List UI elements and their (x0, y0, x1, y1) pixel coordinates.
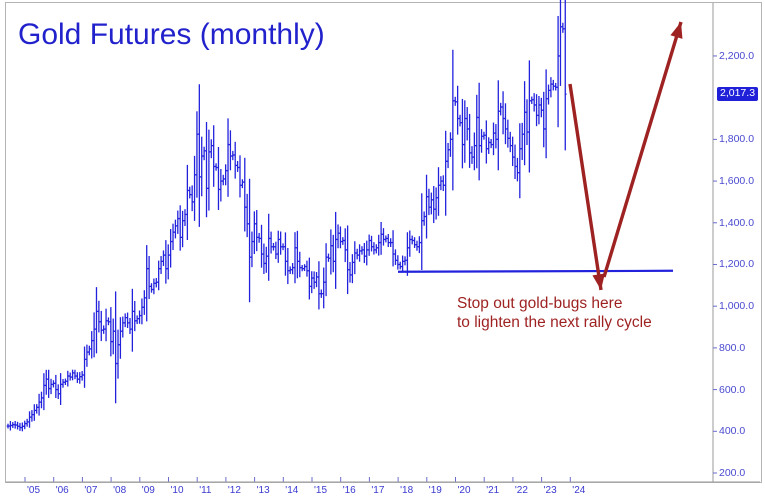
last-price-badge: 2,017.3 (717, 87, 758, 101)
y-axis-tick-label: 1,400.0 (719, 217, 754, 229)
x-axis-tick-label: '22 (515, 485, 528, 496)
annotation-line-2: to lighten the next rally cycle (457, 313, 652, 332)
annotation-line-1: Stop out gold-bugs here (457, 294, 652, 313)
support-trendline (398, 271, 673, 272)
y-axis-tick-label: 600.0 (719, 384, 745, 396)
x-axis-tick-label: '18 (400, 485, 413, 496)
y-axis-tick-label: 1,800.0 (719, 133, 754, 145)
x-axis-tick-label: '11 (199, 485, 211, 496)
y-axis-tick-label: 2,200.0 (719, 50, 754, 62)
x-axis-tick-label: '12 (228, 485, 241, 496)
projection-up-arrow-head (670, 22, 682, 39)
x-axis-tick-label: '17 (371, 485, 384, 496)
y-axis-tick-label: 1,000.0 (719, 300, 754, 312)
ohlc-bars-group (7, 0, 567, 431)
projection-down-arrow (570, 84, 601, 290)
y-axis-tick-label: 1,200.0 (719, 258, 754, 270)
x-axis-tick-label: '24 (572, 485, 585, 496)
x-axis-tick-label: '15 (314, 485, 327, 496)
stop-out-annotation: Stop out gold-bugs here to lighten the n… (457, 294, 652, 332)
x-axis-tick-label: '19 (429, 485, 442, 496)
x-axis-tick-label: '09 (142, 485, 155, 496)
x-axis-tick-label: '05 (27, 485, 40, 496)
x-axis-tick-label: '07 (84, 485, 97, 496)
price-chart-plot (0, 0, 765, 501)
x-axis-tick-label: '13 (257, 485, 270, 496)
projection-up-arrow (604, 22, 681, 277)
x-axis-tick-label: '23 (544, 485, 557, 496)
x-axis-tick-label: '06 (56, 485, 69, 496)
y-axis-tick-label: 1,600.0 (719, 175, 754, 187)
x-axis-tick-label: '21 (486, 485, 499, 496)
x-axis-tick-label: '20 (458, 485, 471, 496)
y-axis-tick-label: 400.0 (719, 425, 745, 437)
y-axis-tick-label: 200.0 (719, 467, 745, 479)
y-axis-tick-label: 800.0 (719, 342, 745, 354)
x-axis-tick-label: '16 (343, 485, 356, 496)
x-axis-tick-label: '10 (171, 485, 184, 496)
x-axis-tick-label: '14 (285, 485, 298, 496)
chart-page: Gold Futures (monthly) 2,200.01,800.01,6… (0, 0, 765, 501)
x-axis-tick-label: '08 (113, 485, 126, 496)
